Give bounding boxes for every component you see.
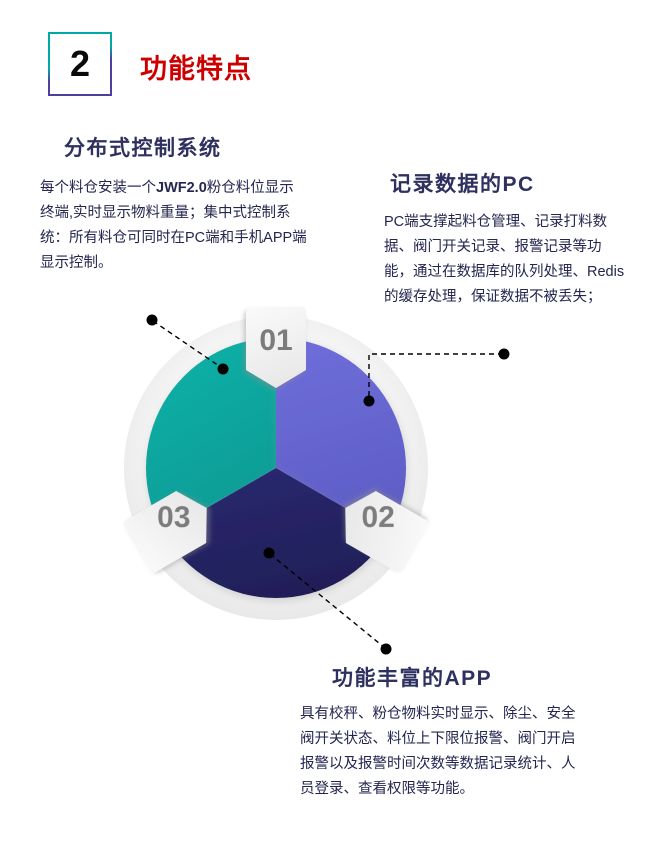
page-header: 2 功能特点 [0, 0, 648, 120]
step-number-badge: 2 [48, 32, 112, 96]
segment-label-03-text: 03 [157, 501, 190, 534]
page-title: 功能特点 [140, 47, 252, 86]
info-block-feature-rich-app: 功能丰富的APP 具有校秤、粉仓物料实时显示、除尘、安全阀开关状态、料位上下限位… [300, 662, 590, 802]
block-heading-1: 分布式控制系统 [64, 132, 310, 162]
block-body-1: 每个料仓安装一个JWF2.0粉仓料位显示终端,实时显示物料重量；集中式控制系统：… [40, 176, 308, 276]
block-body-3: 具有校秤、粉仓物料实时显示、除尘、安全阀开关状态、料位上下限位报警、阀门开启报警… [300, 702, 588, 802]
three-segment-circle-diagram: 01 02 03 [118, 288, 438, 648]
segment-label-01-text: 01 [259, 324, 292, 357]
step-number-text: 2 [50, 34, 110, 94]
block-heading-3: 功能丰富的APP [332, 662, 590, 692]
segment-label-02-text: 02 [362, 501, 395, 534]
block-heading-2: 记录数据的PC [390, 168, 634, 198]
info-block-distributed-control-system: 分布式控制系统 每个料仓安装一个JWF2.0粉仓料位显示终端,实时显示物料重量；… [40, 132, 310, 276]
